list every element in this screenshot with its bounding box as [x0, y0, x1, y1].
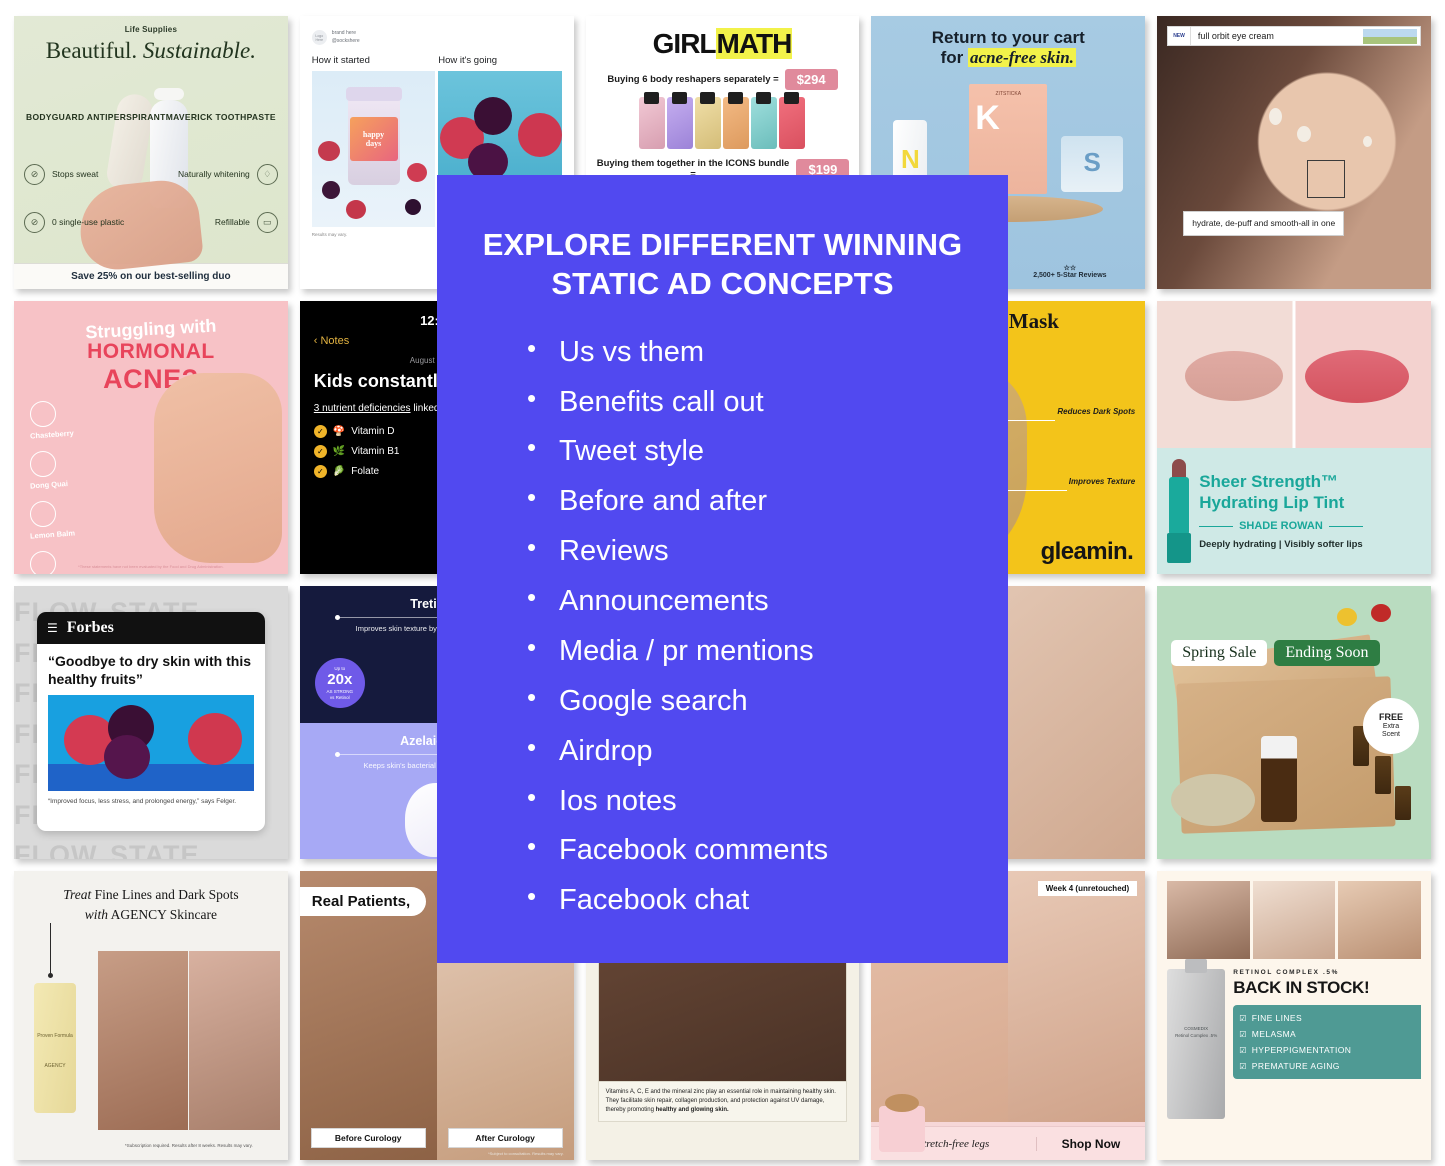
hand-with-capsule-photo [154, 373, 282, 563]
lip-footer: Deeply hydrating | Visibly softer lips [1199, 539, 1363, 550]
tooth-icon: ♢ [257, 164, 278, 185]
ugc-photo-strip [1167, 881, 1421, 959]
lips-before-after-photo [1157, 301, 1431, 448]
product-bottle: COSMEDIXRetinol Complex .5% [1167, 969, 1225, 1119]
life-headline: Beautiful. Sustainable. [14, 38, 288, 64]
overlay-list-item: Facebook comments [523, 826, 974, 876]
label-before: Before Curology [311, 1128, 426, 1148]
benefit-item: ☑HYPERPIGMENTATION [1239, 1045, 1415, 1055]
ugc-photo [1253, 881, 1336, 959]
grid-cell: Sheer Strength™Hydrating Lip Tint SHADE … [1151, 295, 1437, 580]
before-photo [98, 951, 188, 1130]
overlay-concept-list: Us vs themBenefits call outTweet styleBe… [523, 328, 974, 927]
hamburger-menu-icon[interactable]: ☰ [47, 621, 58, 635]
benefit-note: Reduces Dark Spots [1057, 407, 1135, 417]
article-topbar: ☰ Forbes [37, 612, 265, 644]
pill-spring-sale: Spring Sale [1171, 640, 1267, 666]
life-feature: ♢Naturally whitening [178, 164, 278, 185]
product-tubes [596, 97, 850, 149]
week-label: Week 4 (unretouched) [1038, 881, 1137, 896]
refill-icon: ▭ [257, 212, 278, 233]
agency-headline: Treat Fine Lines and Dark Spots with AGE… [26, 885, 276, 926]
grid-cell: Life Supplies Beautiful. Sustainable. BO… [8, 10, 294, 295]
emoji-icon: 🌿 [333, 446, 345, 457]
life-feature: ▭Refillable [215, 212, 278, 233]
girl-math-title: GIRLMATH [653, 28, 793, 60]
stars-icon: ☆☆ [1064, 265, 1077, 272]
grid-cell: FLOW STATE FLOW STATE FLOW STATE FLOW ST… [8, 580, 294, 865]
retinol-body: COSMEDIXRetinol Complex .5% RETINOL COMP… [1167, 969, 1421, 1119]
life-feature: ⊘0 single-use plastic [24, 212, 124, 233]
overlay-list-item: Announcements [523, 577, 974, 627]
product-jar: S [1061, 136, 1123, 192]
overlay-list-item: Facebook chat [523, 876, 974, 926]
label-after: After Curology [448, 1128, 563, 1148]
sale-pills: Spring Sale Ending Soon [1171, 640, 1379, 666]
overlay-list-item: Before and after [523, 477, 974, 527]
model-face-photo [1157, 16, 1431, 289]
overlay-list-item: Benefits call out [523, 378, 974, 428]
article-caption: “Improved focus, less stress, and prolon… [37, 791, 265, 812]
column-label: How it's going [438, 55, 561, 66]
grid-cell: COSMEDIXRetinol Complex .5% RETINOL COMP… [1151, 865, 1437, 1166]
grid-cell: Spring Sale Ending Soon FREE Extra Scent [1151, 580, 1437, 865]
emoji-icon: 🥬 [333, 466, 345, 477]
chevron-left-icon: ‹ [314, 335, 318, 347]
overlay-list-item: Reviews [523, 527, 974, 577]
benefit-note: Improves Texture [1069, 477, 1135, 487]
tile-sheer-strength-lip-tint[interactable]: Sheer Strength™Hydrating Lip Tint SHADE … [1157, 301, 1431, 574]
price-row-separate: Buying 6 body reshapers separately = $29… [596, 69, 850, 90]
education-caption: Vitamins A, C, E and the mineral zinc pl… [598, 1082, 848, 1122]
check-icon: ☑ [1239, 1014, 1247, 1023]
pill-ending-soon: Ending Soon [1274, 640, 1379, 666]
overlay-list-item: Tweet style [523, 427, 974, 477]
retinol-copy: RETINOL COMPLEX .5% BACK IN STOCK! ☑FINE… [1233, 969, 1421, 1119]
life-brand: Life Supplies [14, 25, 288, 34]
strength-badge: Up to 20x AS STRONG vs Retinol [315, 658, 365, 708]
article-card[interactable]: ☰ Forbes “Goodbye to dry skin with this … [37, 612, 265, 831]
lipstick-illustration [1167, 459, 1191, 563]
overlay-list-item: Ios notes [523, 777, 974, 827]
overlay-list-item: Airdrop [523, 727, 974, 777]
arrow-line [50, 923, 51, 975]
product-jar [879, 1106, 925, 1152]
lip-shade: SHADE ROWAN [1199, 520, 1363, 532]
overlay-list-item: Google search [523, 677, 974, 727]
circle-icon [30, 401, 56, 427]
grid-cell: NEW full orbit eye cream hydrate, de-puf… [1151, 10, 1437, 295]
fineprint: *Subject to consultation. Results may va… [488, 1151, 564, 1156]
product-photo: happydays [312, 71, 435, 227]
life-label-right: MAVERICK TOOTHPASTE [166, 112, 276, 123]
life-footer-cta[interactable]: Save 25% on our best-selling duo [14, 263, 288, 289]
benefit-item: ☑PREMATURE AGING [1239, 1061, 1415, 1071]
product-bottle: Proven FormulaAGENCY [34, 983, 76, 1113]
overlay-list-item: Us vs them [523, 328, 974, 378]
thumbnail-image [1363, 29, 1417, 44]
product-kicker: RETINOL COMPLEX .5% [1233, 969, 1421, 976]
tile-retinol-back-in-stock[interactable]: COSMEDIXRetinol Complex .5% RETINOL COMP… [1157, 871, 1431, 1160]
column-before: How it started happydays [312, 55, 435, 227]
bottle-label: COSMEDIXRetinol Complex .5% [1173, 1025, 1219, 1039]
tile-spring-sale[interactable]: Spring Sale Ending Soon FREE Extra Scent [1157, 586, 1431, 859]
jar-label: happydays [350, 117, 398, 161]
gleamin-logo: gleamin. [1041, 538, 1134, 566]
cart-headline: Return to your cartfor acne-free skin. [881, 28, 1135, 67]
search-bar[interactable]: NEW full orbit eye cream [1167, 26, 1421, 46]
circle-icon [30, 501, 56, 527]
emoji-icon: 🍄 [333, 426, 345, 437]
check-icon: ☑ [1239, 1062, 1247, 1071]
cart-brand: ZITSTICKA [975, 91, 1041, 97]
no-plastic-icon: ⊘ [24, 212, 45, 233]
ugc-photo [1167, 881, 1250, 959]
spray-bottle [1261, 736, 1297, 822]
benefit-item: ☑MELASMA [1239, 1029, 1415, 1039]
brand-name: brand here@sockshere [332, 30, 360, 45]
badge-reviews: ☆☆2,500+ 5-Star Reviews [1033, 264, 1106, 279]
circle-icon [30, 551, 56, 574]
circle-icon [30, 451, 56, 477]
ingredient-list: Chasteberry Dong Quai Lemon Balm Vitamin… [30, 401, 75, 574]
shop-now-button[interactable]: Shop Now [1036, 1137, 1146, 1151]
curology-headline: Real Patients, [300, 887, 426, 916]
benefit-item: ☑FINE LINES [1239, 1013, 1415, 1023]
check-icon: ☑ [1239, 1030, 1247, 1039]
zoom-highlight-box [1307, 160, 1345, 198]
tile-full-orbit-eye-cream[interactable]: NEW full orbit eye cream hydrate, de-puf… [1157, 16, 1431, 289]
forbes-logo: Forbes [67, 619, 114, 637]
stock-headline: BACK IN STOCK! [1233, 978, 1421, 998]
tile-forbes-mention[interactable]: FLOW STATE FLOW STATE FLOW STATE FLOW ST… [14, 586, 288, 859]
free-gift-badge: FREE Extra Scent [1363, 698, 1419, 754]
overlay-list-item: Media / pr mentions [523, 627, 974, 677]
tile-life-supplies[interactable]: Life Supplies Beautiful. Sustainable. BO… [14, 16, 288, 289]
after-photo [189, 951, 279, 1130]
brand-header: Logo Here brand here@sockshere [312, 30, 562, 45]
after-photo [1008, 871, 1145, 1122]
product-letter: K [975, 105, 1041, 132]
life-body: BODYGUARD ANTIPERSPIRANT MAVERICK TOOTHP… [14, 64, 288, 263]
life-label-left: BODYGUARD ANTIPERSPIRANT [26, 112, 166, 123]
overlay-title: EXPLORE DIFFERENT WINNING STATIC AD CONC… [471, 225, 974, 304]
before-after-photos [98, 951, 280, 1130]
tile-hormonal-acne[interactable]: Struggling with HORMONAL ACNE? Chasteber… [14, 301, 288, 574]
concepts-overlay-panel: EXPLORE DIFFERENT WINNING STATIC AD CONC… [437, 175, 1008, 963]
article-headline: “Goodbye to dry skin with this healthy f… [37, 644, 265, 695]
fineprint: *Subscription required. Results after 8 … [98, 1143, 280, 1148]
benefits-list: ☑FINE LINES ☑MELASMA ☑HYPERPIGMENTATION … [1233, 1005, 1421, 1079]
grid-cell: Struggling with HORMONAL ACNE? Chasteber… [8, 295, 294, 580]
check-icon: ✓ [314, 425, 327, 438]
column-label: How it started [312, 55, 435, 66]
new-badge: NEW [1168, 27, 1191, 45]
article-image [48, 695, 254, 791]
ingredient-item: Lemon Balm [30, 501, 75, 539]
ingredient-item: Dong Quai [30, 451, 75, 489]
lip-copy: Sheer Strength™Hydrating Lip Tint SHADE … [1199, 472, 1363, 550]
life-feature: ⊘Stops sweat [24, 164, 98, 185]
callout-label: hydrate, de-puff and smooth-all in one [1183, 211, 1344, 236]
no-sweat-icon: ⊘ [24, 164, 45, 185]
ugc-photo [1338, 881, 1421, 959]
grid-cell: Treat Fine Lines and Dark Spots with AGE… [8, 865, 294, 1166]
ingredient-item: Vitamin B6 [30, 551, 75, 574]
lip-title: Sheer Strength™Hydrating Lip Tint [1199, 472, 1363, 513]
search-input[interactable]: full orbit eye cream [1191, 31, 1363, 41]
check-icon: ✓ [314, 465, 327, 478]
check-icon: ✓ [314, 445, 327, 458]
fineprint: *These statements have not been evaluate… [14, 564, 288, 569]
lemons-bowl [1171, 774, 1255, 826]
ingredient-item: Chasteberry [30, 401, 75, 439]
check-icon: ☑ [1239, 1046, 1247, 1055]
tile-agency-skincare[interactable]: Treat Fine Lines and Dark Spots with AGE… [14, 871, 288, 1160]
avatar: Logo Here [312, 30, 327, 45]
lip-product-info: Sheer Strength™Hydrating Lip Tint SHADE … [1157, 448, 1431, 574]
price-badge: $294 [785, 69, 838, 90]
